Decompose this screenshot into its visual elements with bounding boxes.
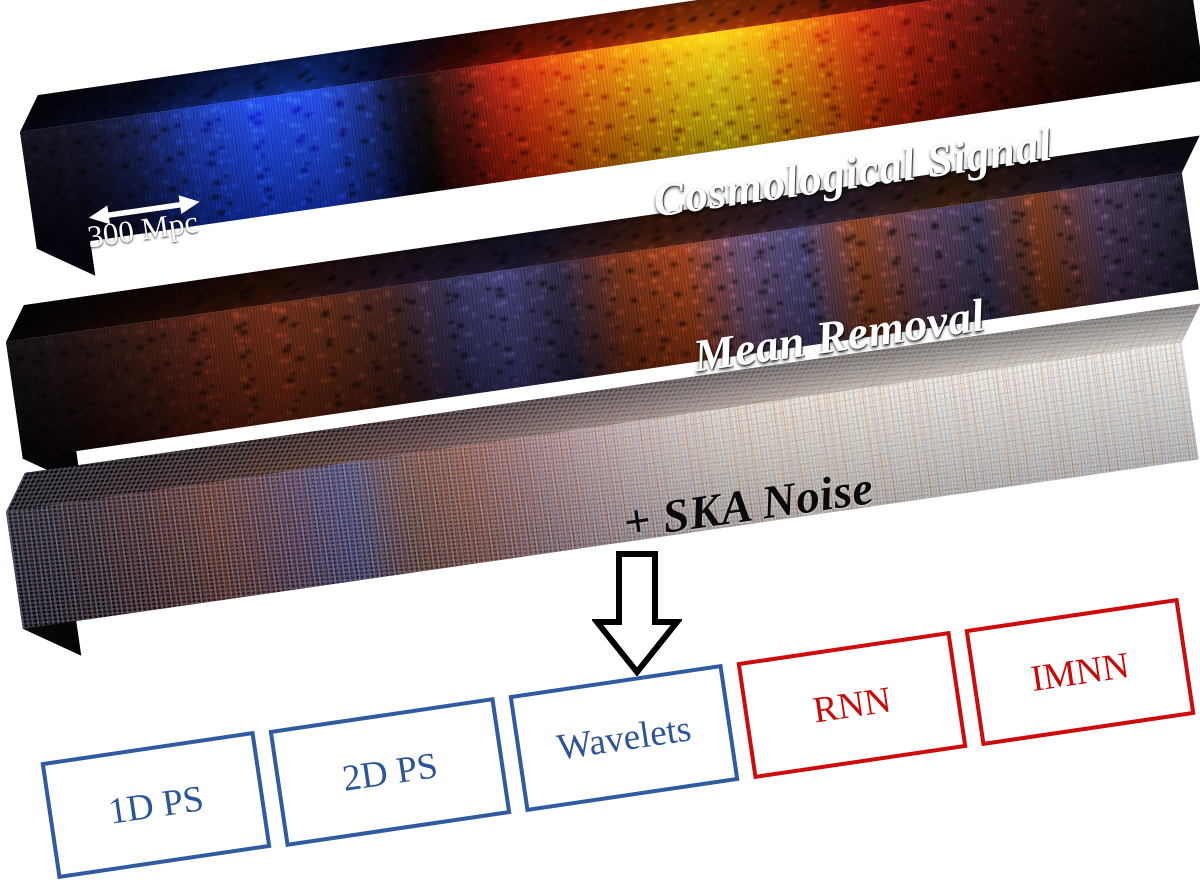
method-box-label: Wavelets [555, 710, 694, 766]
method-box-label: 2D PS [340, 747, 440, 798]
figure-canvas: 300 Mpc Cosmological Signal Mean Removal… [0, 0, 1200, 887]
method-box-label: 1D PS [106, 780, 206, 831]
down-arrow-icon [592, 550, 682, 676]
method-box-label: RNN [811, 681, 894, 729]
method-box-label: IMNN [1028, 646, 1131, 697]
method-box-1d-ps[interactable]: 1D PS [41, 731, 272, 879]
